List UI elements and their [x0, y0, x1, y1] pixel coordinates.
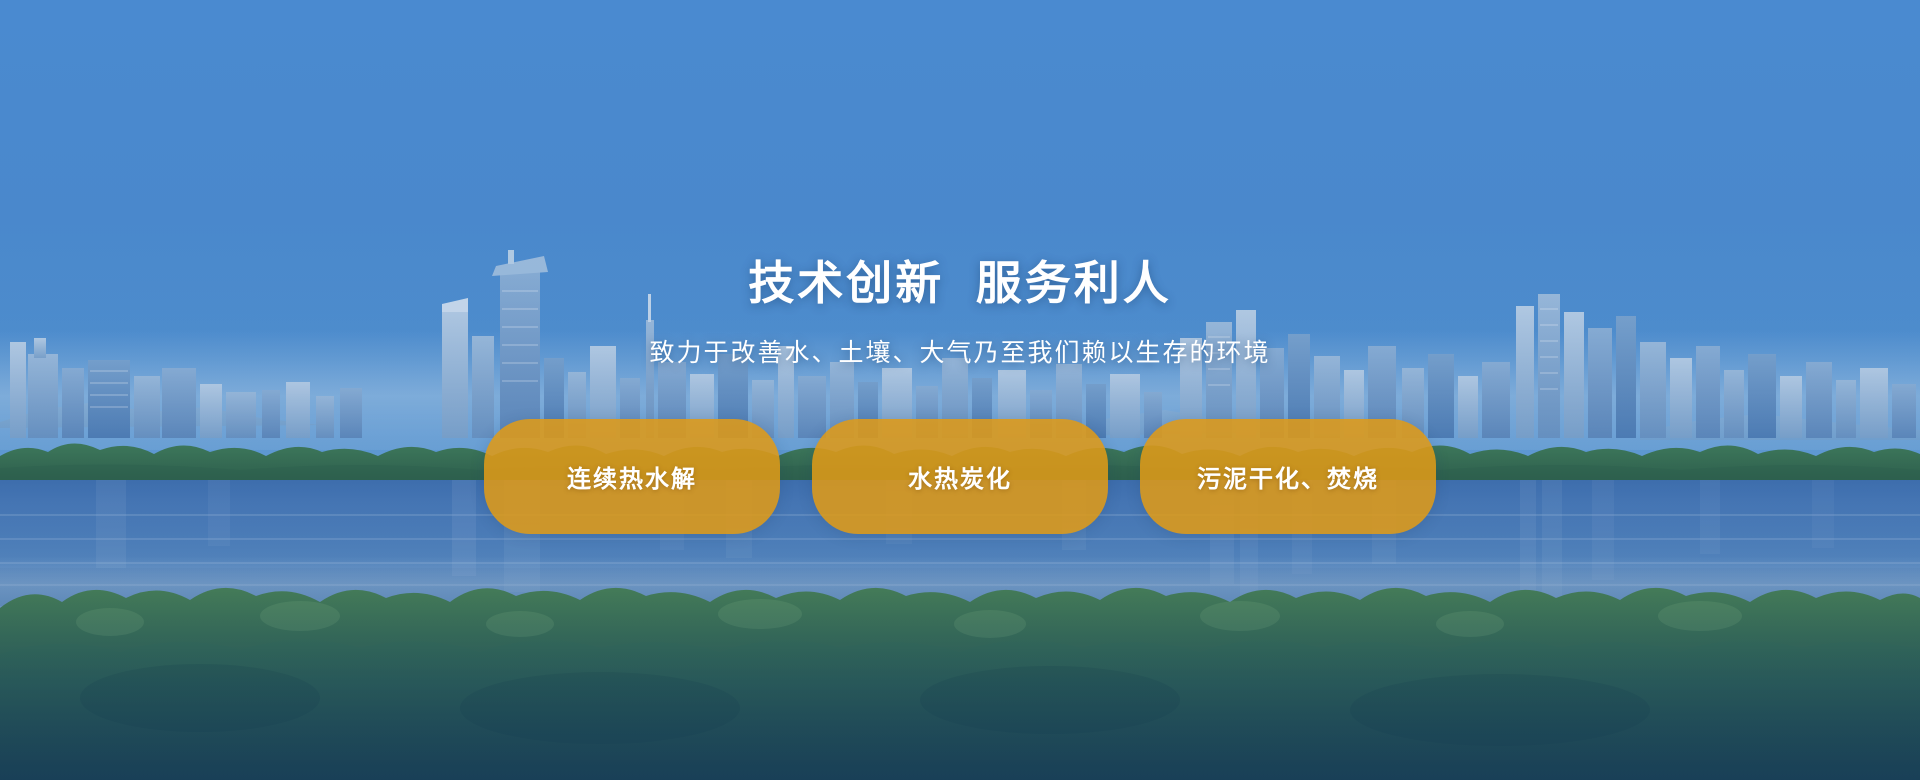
cta-button-hydrothermal-carbonization[interactable]: 水热炭化: [812, 419, 1108, 534]
cta-button-continuous-thermal-hydrolysis[interactable]: 连续热水解: [484, 419, 780, 534]
hero-subtitle: 致力于改善水、土壤、大气乃至我们赖以生存的环境: [649, 333, 1270, 369]
hero-banner: 技术创新 服务利人 致力于改善水、土壤、大气乃至我们赖以生存的环境 连续热水解 …: [0, 0, 1920, 780]
cta-button-sludge-drying-incineration[interactable]: 污泥干化、焚烧: [1140, 419, 1436, 534]
page-title: 技术创新 服务利人: [748, 258, 1172, 309]
mangrove-foreground: [0, 568, 1920, 780]
cta-button-row: 连续热水解 水热炭化 污泥干化、焚烧: [484, 419, 1436, 534]
